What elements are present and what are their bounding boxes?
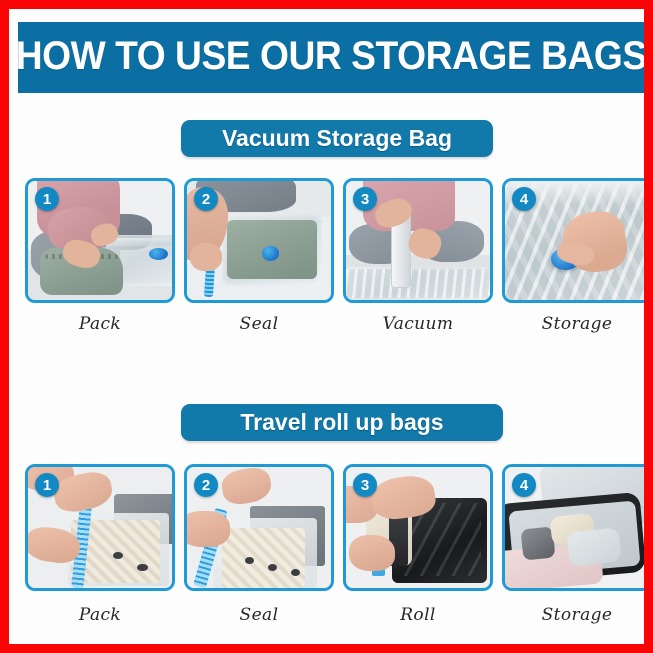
step-number-badge: 1 [35,473,59,497]
step-number-badge: 3 [353,473,377,497]
step-caption: Vacuum [343,314,493,334]
step-number-badge: 3 [353,187,377,211]
step-caption: Pack [25,314,175,334]
step-caption: Storage [502,314,652,334]
poster-root: HOW TO USE OUR STORAGE BAGS Vacuum Stora… [0,0,653,653]
step-cell: 1 Pack [25,464,175,625]
step-caption: Storage [502,605,652,625]
step-card-vacuum-4: 4 [502,178,652,303]
step-card-travel-3: 3 [343,464,493,591]
header-banner: HOW TO USE OUR STORAGE BAGS [18,22,644,90]
step-card-vacuum-3: 3 [343,178,493,303]
step-card-travel-1: 1 [25,464,175,591]
step-card-travel-4: 4 [502,464,652,591]
step-cell: 2 Seal [184,464,334,625]
step-number-badge: 1 [35,187,59,211]
section-pill-vacuum-storage-bag: Vacuum Storage Bag [181,120,493,157]
step-card-vacuum-1: 1 [25,178,175,303]
step-cell: 3 Roll [343,464,493,625]
step-number-badge: 4 [512,473,536,497]
page-title: HOW TO USE OUR STORAGE BAGS [16,34,647,79]
step-caption: Seal [184,314,334,334]
step-cell: 3 Vacuum [343,178,493,334]
section-pill-label: Vacuum Storage Bag [222,125,452,152]
step-cell: 2 Seal [184,178,334,334]
step-number-badge: 2 [194,187,218,211]
step-caption: Seal [184,605,334,625]
step-caption: Roll [343,605,493,625]
section-pill-travel-roll-up-bags: Travel roll up bags [181,404,503,441]
step-card-vacuum-2: 2 [184,178,334,303]
step-card-travel-2: 2 [184,464,334,591]
step-cell: 4 Storage [502,178,652,334]
section-pill-label: Travel roll up bags [240,409,443,436]
step-caption: Pack [25,605,175,625]
step-number-badge: 2 [194,473,218,497]
banner-underline [18,90,644,93]
poster-inner: HOW TO USE OUR STORAGE BAGS Vacuum Stora… [9,9,644,644]
step-cell: 4 Storage [502,464,652,625]
step-number-badge: 4 [512,187,536,211]
steps-row-travel-roll-up-bags: 1 Pack 2 [25,464,646,625]
step-cell: 1 Pack [25,178,175,334]
steps-row-vacuum-storage-bag: 1 Pack 2 [25,178,646,334]
